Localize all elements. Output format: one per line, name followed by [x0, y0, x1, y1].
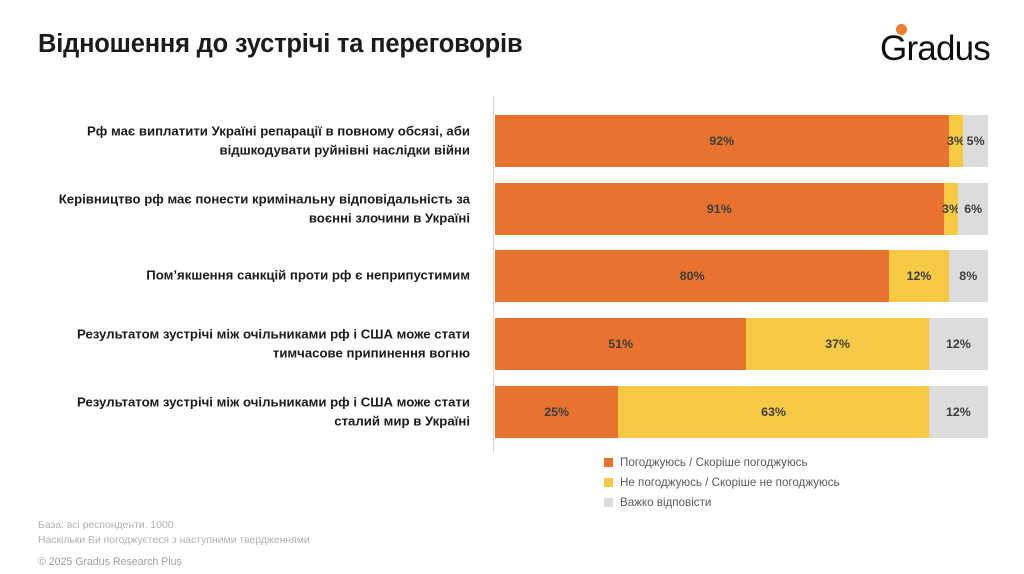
- footer: База: всі респонденти. 1000 Наскільки Ви…: [38, 518, 310, 568]
- chart-row: Результатом зустрічі між очільниками рф …: [0, 386, 1024, 438]
- chart-row: Пом’якшення санкцій проти рф є неприпуст…: [0, 250, 1024, 302]
- bar-value-label: 3%: [947, 134, 965, 148]
- bar-segment-hard-to-answer: 12%: [929, 386, 988, 438]
- bar-value-label: 12%: [946, 405, 971, 419]
- bar-value-label: 12%: [907, 269, 932, 283]
- legend-item-hard-to-answer: Важко відповісти: [604, 496, 840, 509]
- bar-segment-agree: 92%: [495, 115, 949, 167]
- bar-segment-hard-to-answer: 5%: [963, 115, 988, 167]
- chart-row: Результатом зустрічі між очільниками рф …: [0, 318, 1024, 370]
- bar-value-label: 8%: [959, 269, 977, 283]
- legend-swatch-agree: [604, 458, 613, 467]
- stacked-bar: 51%37%12%: [495, 318, 988, 370]
- gradus-logo: Gradus: [880, 22, 990, 68]
- bar-segment-hard-to-answer: 8%: [949, 250, 988, 302]
- footer-base-text: База: всі респонденти. 1000: [38, 518, 310, 533]
- bar-value-label: 37%: [825, 337, 850, 351]
- legend-swatch-hard-to-answer: [604, 498, 613, 507]
- bar-value-label: 25%: [544, 405, 569, 419]
- bar-value-label: 63%: [761, 405, 786, 419]
- bar-segment-disagree: 3%: [944, 183, 959, 235]
- bar-value-label: 91%: [707, 202, 732, 216]
- bar-value-label: 5%: [967, 134, 985, 148]
- row-label: Пом’якшення санкцій проти рф є неприпуст…: [30, 267, 470, 286]
- bar-segment-disagree: 37%: [746, 318, 928, 370]
- chart-row: Керівництво рф має понести кримінальну в…: [0, 183, 1024, 235]
- chart-row: Рф має виплатити Україні репарації в пов…: [0, 115, 1024, 167]
- bar-segment-agree: 91%: [495, 183, 944, 235]
- legend-label-disagree: Не погоджуюсь / Скоріше не погоджуюсь: [620, 476, 840, 489]
- legend-item-agree: Погоджуюсь / Скоріше погоджуюсь: [604, 456, 840, 469]
- bar-segment-hard-to-answer: 12%: [929, 318, 988, 370]
- bar-segment-disagree: 63%: [618, 386, 929, 438]
- slide: Відношення до зустрічі та переговорів Gr…: [0, 0, 1024, 574]
- stacked-bar: 92%3%5%: [495, 115, 988, 167]
- bar-segment-disagree: 12%: [889, 250, 948, 302]
- bar-value-label: 12%: [946, 337, 971, 351]
- bar-value-label: 6%: [964, 202, 982, 216]
- legend-label-agree: Погоджуюсь / Скоріше погоджуюсь: [620, 456, 807, 469]
- bar-segment-disagree: 3%: [949, 115, 964, 167]
- bar-segment-hard-to-answer: 6%: [958, 183, 988, 235]
- row-label: Результатом зустрічі між очільниками рф …: [30, 393, 470, 430]
- bar-value-label: 92%: [709, 134, 734, 148]
- logo-dot-icon: [896, 24, 907, 35]
- stacked-bar: 91%3%6%: [495, 183, 988, 235]
- stacked-bar: 80%12%8%: [495, 250, 988, 302]
- bar-segment-agree: 80%: [495, 250, 889, 302]
- legend-item-disagree: Не погоджуюсь / Скоріше не погоджуюсь: [604, 476, 840, 489]
- footer-copyright: © 2025 Gradus Research Plus: [38, 556, 310, 568]
- row-label: Рф має виплатити Україні репарації в пов…: [30, 122, 470, 159]
- chart-legend: Погоджуюсь / Скоріше погоджуюсь Не погод…: [604, 456, 840, 509]
- bar-value-label: 80%: [680, 269, 705, 283]
- bar-value-label: 51%: [608, 337, 633, 351]
- row-label: Результатом зустрічі між очільниками рф …: [30, 325, 470, 362]
- page-title: Відношення до зустрічі та переговорів: [38, 30, 522, 59]
- bar-segment-agree: 51%: [495, 318, 746, 370]
- stacked-bar-chart: Рф має виплатити Україні репарації в пов…: [0, 96, 1024, 452]
- stacked-bar: 25%63%12%: [495, 386, 988, 438]
- bar-segment-agree: 25%: [495, 386, 618, 438]
- footer-question-text: Наскільки Ви погоджуєтеся з наступними т…: [38, 533, 310, 548]
- logo-text: Gradus: [880, 31, 990, 68]
- row-label: Керівництво рф має понести кримінальну в…: [30, 190, 470, 227]
- legend-label-hard-to-answer: Важко відповісти: [620, 496, 711, 509]
- bar-value-label: 3%: [942, 202, 960, 216]
- legend-swatch-disagree: [604, 478, 613, 487]
